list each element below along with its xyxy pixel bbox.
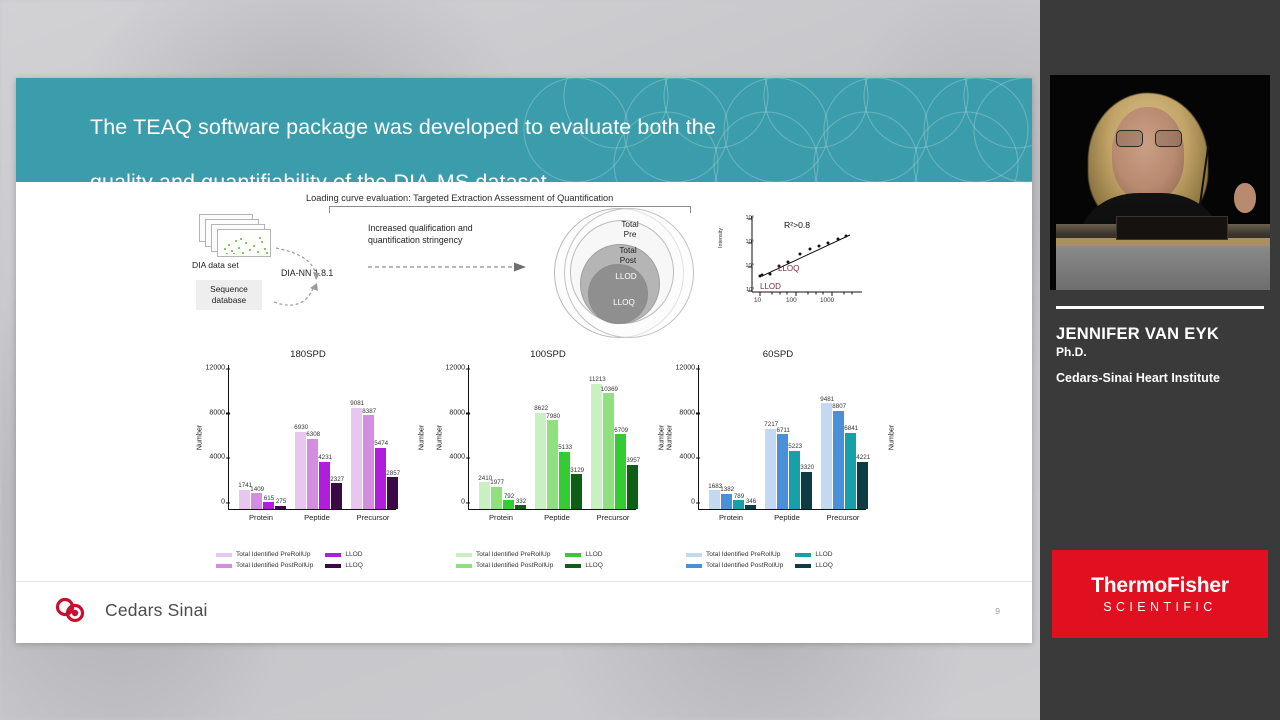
speaker-degree: Ph.D. <box>1056 345 1271 359</box>
slide-header: The TEAQ software package was developed … <box>16 78 1032 182</box>
bar-value-label: 11213 <box>589 376 606 383</box>
chart-title: 100SPD <box>438 349 658 360</box>
scatter-ytick-2: 10⁴ <box>745 263 754 269</box>
chart-title: 60SPD <box>668 349 888 360</box>
bar: 8387 <box>363 415 374 509</box>
chart-y-axis-label-left: Number <box>664 425 673 451</box>
legend-item: Total Identified PostRollUp <box>686 562 783 569</box>
bar: 11213 <box>591 384 602 509</box>
chart-y-axis-label-left: Number <box>434 425 443 451</box>
bar: 1683 <box>709 490 720 509</box>
x-axis-category-label: Precursor <box>357 513 390 522</box>
bar-value-label: 332 <box>516 498 526 505</box>
bar-value-label: 9481 <box>820 396 834 403</box>
bar: 9481 <box>821 403 832 509</box>
bar: 3320 <box>801 472 812 509</box>
legend-label: Total Identified PostRollUp <box>476 562 553 569</box>
bar-value-label: 8807 <box>832 403 846 410</box>
bar: 10369 <box>603 393 614 509</box>
stringency-label: Increased qualification and quantificati… <box>368 222 518 246</box>
bar: 346 <box>745 505 756 509</box>
bar-value-label: 8622 <box>534 405 548 412</box>
legend-label: Total Identified PreRollUp <box>476 551 550 558</box>
bar-value-label: 1382 <box>720 486 734 493</box>
chart-plot-area: 0400080001200024101977792332Protein86227… <box>468 365 636 510</box>
scatter-r2-annotation: R²>0.8 <box>784 220 810 230</box>
legend-label: Total Identified PostRollUp <box>236 562 313 569</box>
rail-divider <box>1056 306 1264 309</box>
y-axis-tick: 8000 <box>209 409 225 416</box>
bar: 7980 <box>547 420 558 509</box>
y-axis-tick: 4000 <box>679 454 695 461</box>
chart-panel-60spd: 60SPDNumberNumber04000800012000168313827… <box>668 347 888 547</box>
legend-swatch <box>325 564 341 568</box>
workflow-diagram: Loading curve evaluation: Targeted Extra… <box>16 182 1032 347</box>
chart-legend: Total Identified PreRollUpTotal Identifi… <box>216 551 363 569</box>
speaker-hand <box>1234 183 1256 213</box>
legend-swatch <box>565 553 581 557</box>
cedars-sinai-mark-icon <box>54 596 94 624</box>
bar-value-label: 7980 <box>546 413 560 420</box>
bar: 5133 <box>559 452 570 509</box>
bar-value-label: 6930 <box>294 424 308 431</box>
legend-item: Total Identified PreRollUp <box>216 551 313 558</box>
x-axis-category-label: Precursor <box>827 513 860 522</box>
bar: 4221 <box>857 462 868 509</box>
bar-value-label: 275 <box>276 498 286 505</box>
scatter-y-axis-label: Intensity <box>718 228 724 248</box>
bar-value-label: 3957 <box>626 457 640 464</box>
chart-y-axis-label-right: Number <box>417 425 426 451</box>
bar-value-label: 346 <box>746 498 756 505</box>
stringency-arrow <box>368 261 528 273</box>
bar: 6930 <box>295 432 306 509</box>
x-axis-category-label: Protein <box>249 513 273 522</box>
scatter-xtick-1: 100 <box>786 297 797 304</box>
nest-label-total-post: Total Post <box>598 246 658 266</box>
chart-y-axis-label-right: Number <box>887 425 896 451</box>
x-axis-category-label: Peptide <box>774 513 800 522</box>
thermo-fisher-scientific-text: SCIENTIFIC <box>1103 600 1216 614</box>
chart-panel-100spd: 100SPDNumberNumber0400080001200024101977… <box>438 347 658 547</box>
bar-value-label: 5223 <box>788 443 802 450</box>
scatter-xtick-0: 10 <box>754 297 761 304</box>
bar-value-label: 8387 <box>362 408 376 415</box>
bar: 6709 <box>615 434 626 509</box>
bar-value-label: 4231 <box>318 454 332 461</box>
bar-value-label: 10369 <box>601 386 618 393</box>
legend-label: Total Identified PreRollUp <box>236 551 310 558</box>
legend-item: LLOQ <box>795 562 833 569</box>
podium-front <box>1056 246 1270 290</box>
loading-curve-scatter-chart: Intensity 10⁶ 10⁵ 10⁴ 10³ 10 100 1000 R²… <box>722 206 872 326</box>
x-axis-category-label: Precursor <box>597 513 630 522</box>
thermo-fisher-logo: ThermoFisher SCIENTIFIC <box>1052 550 1268 638</box>
legend-label: LLOD <box>585 551 602 558</box>
legend-swatch <box>795 553 811 557</box>
bar: 2327 <box>331 483 342 509</box>
bar-value-label: 2857 <box>386 470 400 477</box>
speaker-name: JENNIFER VAN EYK <box>1056 325 1271 344</box>
y-axis-tick: 12000 <box>676 365 695 372</box>
page-title: The TEAQ software package was developed … <box>90 100 992 182</box>
legend-swatch <box>686 564 702 568</box>
chart-panel-180spd: 180SPDNumberNumber0400080001200017411409… <box>198 347 418 547</box>
thermo-fisher-wordmark: ThermoFisher <box>1091 574 1229 598</box>
legend-item: LLOD <box>325 551 363 558</box>
bar: 275 <box>275 506 286 509</box>
bar: 789 <box>733 500 744 509</box>
presentation-slide: The TEAQ software package was developed … <box>16 78 1032 643</box>
podium-screen <box>1116 216 1228 240</box>
bar-value-label: 5133 <box>558 444 572 451</box>
legend-label: LLOQ <box>815 562 833 569</box>
sequence-database-label: Sequence database <box>210 284 248 306</box>
legend-label: LLOD <box>815 551 832 558</box>
x-axis-category-label: Peptide <box>544 513 570 522</box>
legend-label: Total Identified PreRollUp <box>706 551 780 558</box>
legend-item: Total Identified PreRollUp <box>456 551 553 558</box>
slide-footer: Cedars Sinai 9 <box>16 581 1032 643</box>
y-axis-tick: 8000 <box>449 409 465 416</box>
y-axis-tick: 8000 <box>679 409 695 416</box>
bar-value-label: 6709 <box>614 427 628 434</box>
sequence-database-box: Sequence database <box>196 280 262 310</box>
scatter-ytick-0: 10⁶ <box>745 215 754 221</box>
bar: 3129 <box>571 474 582 509</box>
bar-value-label: 2327 <box>330 476 344 483</box>
legend-item: Total Identified PostRollUp <box>456 562 553 569</box>
bar: 8622 <box>535 413 546 509</box>
bar-charts-row: 180SPDNumberNumber0400080001200017411409… <box>16 347 1032 547</box>
y-axis-tick: 12000 <box>446 365 465 372</box>
legend-item: LLOQ <box>565 562 603 569</box>
scatter-ytick-1: 10⁵ <box>745 239 754 245</box>
bar-value-label: 1409 <box>250 486 264 493</box>
bar: 6308 <box>307 439 318 509</box>
x-axis-category-label: Protein <box>719 513 743 522</box>
bar-value-label: 3129 <box>570 467 584 474</box>
bar-value-label: 615 <box>264 495 274 502</box>
y-axis-tick: 0 <box>221 499 225 506</box>
chart-title: 180SPD <box>198 349 418 360</box>
scatter-xtick-2: 1000 <box>820 297 834 304</box>
legend-label: LLOQ <box>345 562 363 569</box>
legend-swatch <box>216 553 232 557</box>
x-axis-category-label: Peptide <box>304 513 330 522</box>
chart-y-axis-label-left: Number <box>194 425 203 451</box>
legend-swatch <box>565 564 581 568</box>
dia-data-set-label: DIA data set <box>192 260 239 270</box>
scatter-ytick-3: 10³ <box>746 287 754 293</box>
bar: 615 <box>263 502 274 509</box>
speaker-affiliation: Cedars-Sinai Heart Institute <box>1056 371 1271 385</box>
bar: 1409 <box>251 493 262 509</box>
bar: 2410 <box>479 482 490 509</box>
nest-label-llod: LLOD <box>596 272 656 282</box>
legend-label: LLOQ <box>585 562 603 569</box>
chart-legend: Total Identified PreRollUpTotal Identifi… <box>686 551 833 569</box>
bar-value-label: 3320 <box>800 464 814 471</box>
scatter-llod-annotation: LLOD <box>760 282 781 291</box>
y-axis-tick: 0 <box>691 499 695 506</box>
glasses-icon <box>1116 130 1182 145</box>
bar-value-label: 6711 <box>777 427 790 434</box>
chart-plot-area: 0400080001200017411409615275Protein69306… <box>228 365 396 510</box>
bar-value-label: 5474 <box>374 440 388 447</box>
bar: 5223 <box>789 451 800 509</box>
y-axis-tick: 0 <box>461 499 465 506</box>
bar: 7217 <box>765 429 776 509</box>
legend-label: LLOD <box>345 551 362 558</box>
bar-value-label: 789 <box>734 493 744 500</box>
nest-label-total-pre: Total Pre <box>600 220 660 240</box>
speaker-video-thumbnail[interactable] <box>1050 75 1270 290</box>
bar-value-label: 6308 <box>306 431 320 438</box>
bar: 332 <box>515 505 526 509</box>
legend-item: LLOQ <box>325 562 363 569</box>
bar-value-label: 792 <box>504 493 514 500</box>
bar-value-label: 6841 <box>844 425 858 432</box>
y-axis-tick: 12000 <box>206 365 225 372</box>
legend-item: Total Identified PreRollUp <box>686 551 783 558</box>
scatter-lloq-annotation: LLOQ <box>778 264 799 273</box>
legend-swatch <box>325 553 341 557</box>
bar: 1741 <box>239 490 250 509</box>
chart-legend: Total Identified PreRollUpTotal Identifi… <box>456 551 603 569</box>
legend-label: Total Identified PostRollUp <box>706 562 783 569</box>
bar: 2857 <box>387 477 398 509</box>
bar: 3957 <box>627 465 638 509</box>
speaker-info: JENNIFER VAN EYK Ph.D. Cedars-Sinai Hear… <box>1056 325 1271 385</box>
y-axis-tick: 4000 <box>209 454 225 461</box>
workflow-arrows <box>256 210 376 320</box>
y-axis-tick: 4000 <box>449 454 465 461</box>
legend-item: LLOD <box>565 551 603 558</box>
bar: 9081 <box>351 408 362 509</box>
cedars-sinai-wordmark: Cedars Sinai <box>105 600 208 621</box>
bar: 8807 <box>833 411 844 509</box>
cedars-sinai-logo: Cedars Sinai <box>54 596 208 624</box>
legend-swatch <box>456 564 472 568</box>
legend-swatch <box>456 553 472 557</box>
diagram-caption: Loading curve evaluation: Targeted Extra… <box>306 193 613 203</box>
bar: 6841 <box>845 433 856 509</box>
bar-value-label: 9081 <box>350 400 364 407</box>
legend-item: LLOD <box>795 551 833 558</box>
legend-swatch <box>216 564 232 568</box>
bar: 792 <box>503 500 514 509</box>
chart-plot-area: 0400080001200016831382789346Protein72176… <box>698 365 866 510</box>
nested-circles-diagram: Total Pre Total Post LLOD LLOQ <box>554 208 694 338</box>
bar: 6711 <box>777 434 788 509</box>
bar: 4231 <box>319 462 330 509</box>
legend-swatch <box>686 553 702 557</box>
bar: 1382 <box>721 494 732 509</box>
legend-swatch <box>795 564 811 568</box>
slide-page-number: 9 <box>995 606 1000 616</box>
bar-value-label: 4221 <box>856 454 870 461</box>
x-axis-category-label: Protein <box>489 513 513 522</box>
speaker-face <box>1112 107 1184 201</box>
legend-item: Total Identified PostRollUp <box>216 562 313 569</box>
bar-value-label: 1977 <box>490 479 504 486</box>
nest-label-lloq: LLOQ <box>594 298 654 308</box>
bar: 5474 <box>375 448 386 509</box>
bar: 1977 <box>491 487 502 509</box>
